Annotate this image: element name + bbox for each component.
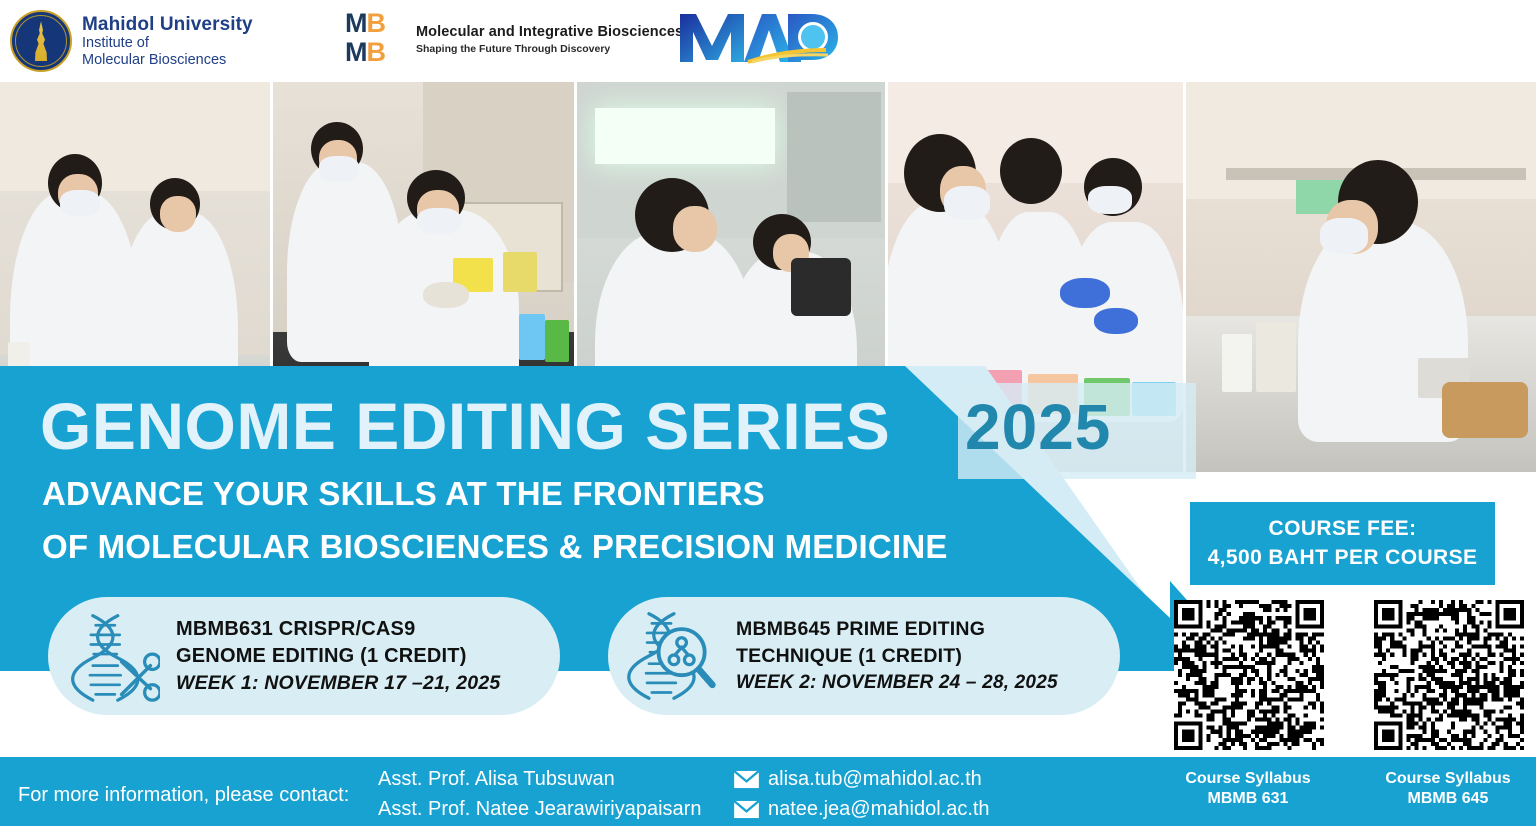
- course-code-title: MBMB631 CRISPR/CAS9: [176, 618, 500, 641]
- course-fee-box: COURSE FEE: 4,500 BAHT PER COURSE: [1190, 502, 1495, 585]
- qr-caption-645: Course Syllabus MBMB 645: [1358, 769, 1536, 809]
- map-logo: [676, 6, 842, 68]
- qr-code-mbmb645[interactable]: [1374, 600, 1524, 750]
- course-fee-label: COURSE FEE:: [1269, 517, 1417, 541]
- course-fee-amount: 4,500 BAHT PER COURSE: [1208, 546, 1478, 570]
- course-dates: WEEK 2: NOVEMBER 24 – 28, 2025: [736, 672, 1058, 694]
- lab-photo: [1186, 82, 1536, 472]
- mahidol-name: Mahidol University: [82, 14, 253, 35]
- envelope-icon: [733, 770, 760, 789]
- qr-caption-line2: MBMB 645: [1358, 789, 1536, 809]
- contact-label: For more information, please contact:: [18, 784, 349, 807]
- dna-scissors-icon: [48, 597, 176, 715]
- course-card-mbmb631[interactable]: MBMB631 CRISPR/CAS9 GENOME EDITING (1 CR…: [48, 597, 560, 715]
- mahidol-institute-line2: Molecular Biosciences: [82, 52, 253, 68]
- mahidol-crest-icon: [10, 10, 72, 72]
- page-title: GENOME EDITING SERIES: [40, 388, 890, 464]
- mahidol-university-logo: Mahidol University Institute of Molecula…: [10, 4, 310, 78]
- subtitle-line-1: ADVANCE YOUR SKILLS AT THE FRONTIERS: [42, 475, 765, 513]
- qr-caption-line1: Course Syllabus: [1358, 769, 1536, 789]
- mbmb-tagline: Shaping the Future Through Discovery: [416, 43, 683, 55]
- course-card-mbmb645[interactable]: MBMB645 PRIME EDITING TECHNIQUE (1 CREDI…: [608, 597, 1120, 715]
- qr-code-mbmb631[interactable]: [1174, 600, 1324, 750]
- contact-email-1[interactable]: alisa.tub@mahidol.ac.th: [768, 768, 982, 791]
- mbmb-logo: MB MB Molecular and Integrative Bioscien…: [345, 8, 683, 70]
- mbmb-full-name: Molecular and Integrative Biosciences: [416, 24, 683, 40]
- subtitle-line-2: OF MOLECULAR BIOSCIENCES & PRECISION MED…: [42, 528, 948, 566]
- course-subtitle: TECHNIQUE (1 CREDIT): [736, 645, 1058, 668]
- envelope-icon: [733, 800, 760, 819]
- contact-person-1: Asst. Prof. Alisa Tubsuwan: [378, 768, 615, 791]
- mahidol-institute-line1: Institute of: [82, 35, 253, 51]
- contact-person-2: Asst. Prof. Natee Jearawiriyapaisarn: [378, 798, 701, 821]
- qr-caption-631: Course Syllabus MBMB 631: [1158, 769, 1338, 809]
- map-wordmark-icon: [676, 6, 842, 68]
- dna-magnifier-icon: [608, 597, 736, 715]
- year-label: 2025: [965, 390, 1111, 464]
- qr-code-icon[interactable]: [1174, 600, 1324, 750]
- qr-caption-line1: Course Syllabus: [1158, 769, 1338, 789]
- mbmb-monogram-icon: MB MB: [345, 9, 407, 69]
- poster-root: Mahidol University Institute of Molecula…: [0, 0, 1536, 826]
- header-logo-bar: Mahidol University Institute of Molecula…: [0, 0, 1536, 82]
- course-code-title: MBMB645 PRIME EDITING: [736, 618, 1058, 641]
- course-dates: WEEK 1: NOVEMBER 17 –21, 2025: [176, 672, 500, 695]
- qr-caption-line2: MBMB 631: [1158, 789, 1338, 809]
- contact-email-2[interactable]: natee.jea@mahidol.ac.th: [768, 798, 990, 821]
- course-subtitle: GENOME EDITING (1 CREDIT): [176, 645, 500, 668]
- qr-code-icon[interactable]: [1374, 600, 1524, 750]
